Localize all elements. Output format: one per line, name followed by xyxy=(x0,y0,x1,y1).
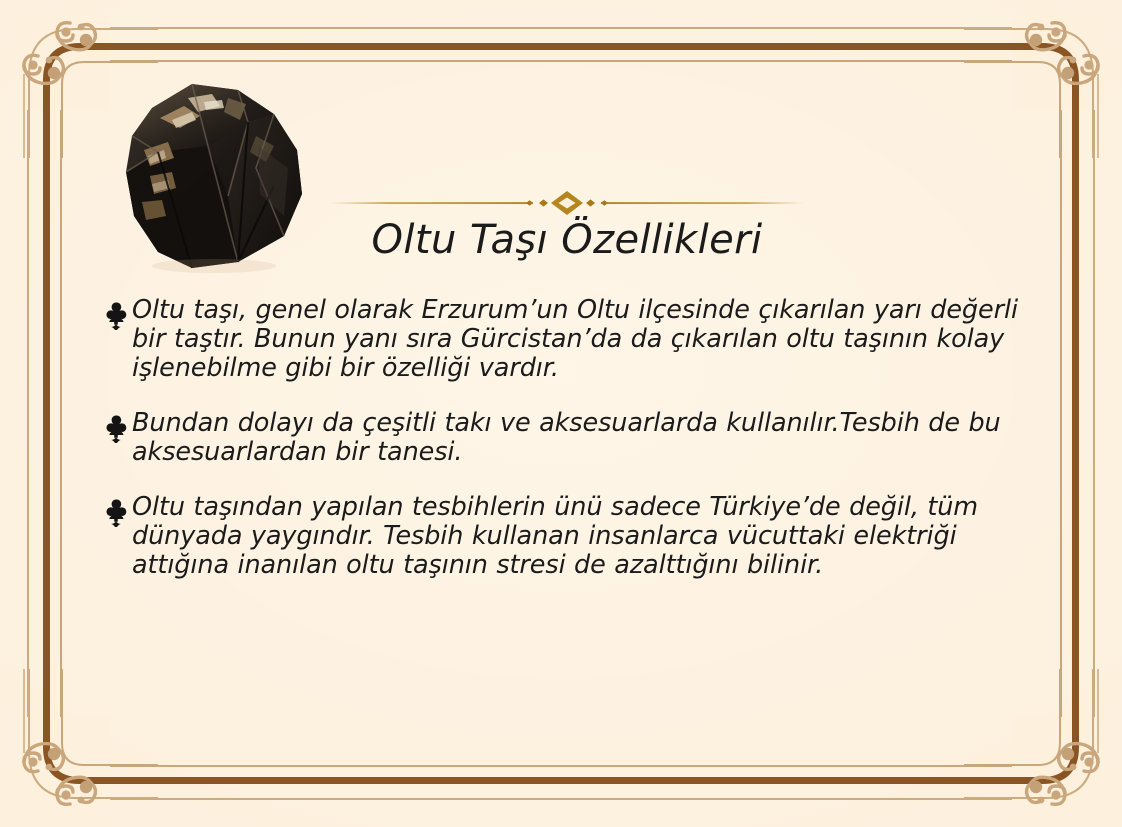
fleur-de-lis-bullet-icon xyxy=(100,301,132,331)
title-block: Oltu Taşı Özellikleri xyxy=(330,190,804,264)
corner-mask-top-right xyxy=(1012,18,1104,110)
diamond-divider-ornament xyxy=(330,190,804,216)
corner-ornament-bottom-left xyxy=(8,669,158,819)
list-item-text: Bundan dolayı da çeşitli takı ve aksesua… xyxy=(132,409,1052,467)
corner-mask-bottom-left xyxy=(18,717,110,809)
fleur-de-lis-bullet-icon xyxy=(100,498,132,528)
fleur-de-lis-bullet-icon xyxy=(100,414,132,444)
oltu-stone-image xyxy=(88,76,320,274)
list-item-text: Oltu taşından yapılan tesbihlerin ünü sa… xyxy=(132,493,1052,580)
list-item-text: Oltu taşı, genel olarak Erzurum’un Oltu … xyxy=(132,296,1052,383)
page-title: Oltu Taşı Özellikleri xyxy=(330,216,804,264)
list-item: Oltu taşı, genel olarak Erzurum’un Oltu … xyxy=(100,296,1052,383)
list-item: Oltu taşından yapılan tesbihlerin ünü sa… xyxy=(100,493,1052,580)
corner-ornament-top-right xyxy=(964,8,1114,158)
info-card: Oltu Taşı Özellikleri Oltu taşı, genel o… xyxy=(0,0,1122,827)
features-list: Oltu taşı, genel olarak Erzurum’un Oltu … xyxy=(100,296,1052,580)
corner-mask-bottom-right xyxy=(1012,717,1104,809)
corner-ornament-bottom-right xyxy=(964,669,1114,819)
list-item: Bundan dolayı da çeşitli takı ve aksesua… xyxy=(100,409,1052,467)
